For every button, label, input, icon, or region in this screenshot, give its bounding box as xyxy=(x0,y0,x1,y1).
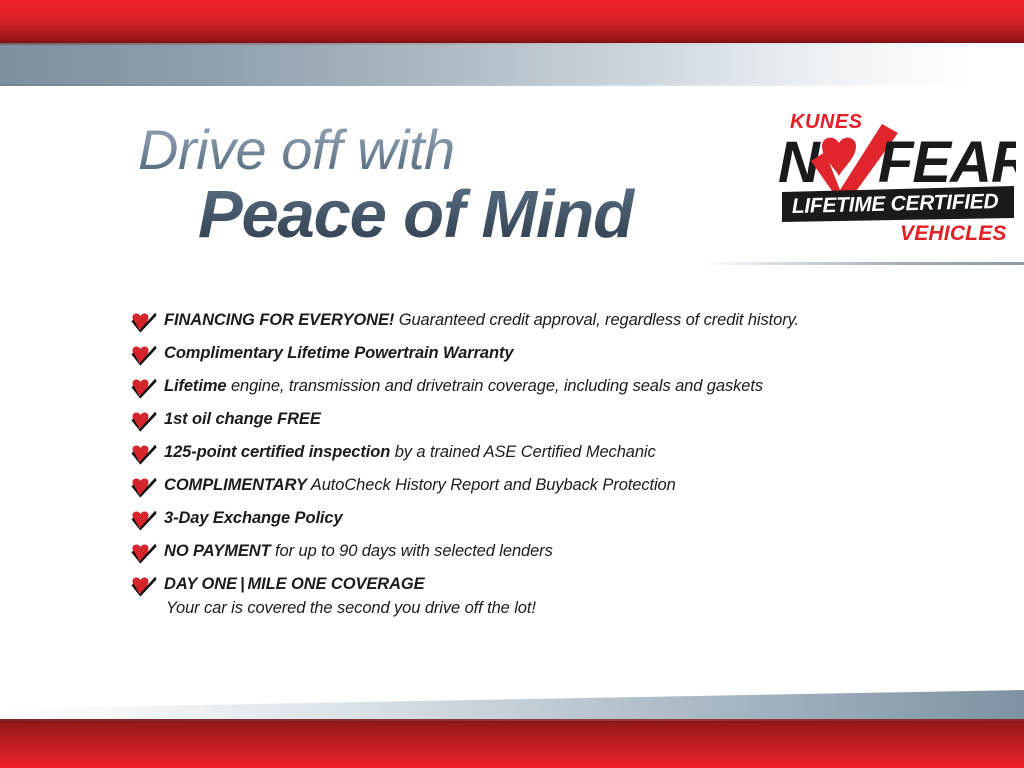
list-item-bold: NO PAYMENT xyxy=(164,542,271,560)
top-red-band xyxy=(0,0,1024,43)
list-item-bold: COMPLIMENTARY xyxy=(164,476,307,494)
bottom-gray-band xyxy=(0,690,1024,720)
list-item-text: Complimentary Lifetime Powertrain Warran… xyxy=(164,344,513,362)
list-item-bold: Complimentary Lifetime Powertrain Warran… xyxy=(164,344,513,362)
list-item: 1st oil change FREE xyxy=(130,409,970,440)
list-item: 3-Day Exchange Policy xyxy=(130,508,970,539)
list-item-rest: AutoCheck History Report and Buyback Pro… xyxy=(307,476,676,494)
list-item-rest: engine, transmission and drivetrain cove… xyxy=(226,377,763,395)
list-item-bold: 1st oil change FREE xyxy=(164,410,321,428)
list-item-text: 3-Day Exchange Policy xyxy=(164,509,343,527)
list-item-text: NO PAYMENT for up to 90 days with select… xyxy=(164,542,553,560)
kunes-no-fear-logo: KUNES N FEAR LIFETIME CERTIFIED VEHICLES xyxy=(770,106,1016,246)
heart-check-icon xyxy=(130,443,157,465)
list-item: Lifetime engine, transmission and drivet… xyxy=(130,376,970,407)
list-item-text: COMPLIMENTARY AutoCheck History Report a… xyxy=(164,476,676,494)
list-item-rest: Guaranteed credit approval, regardless o… xyxy=(394,311,799,329)
list-item-text: Lifetime engine, transmission and drivet… xyxy=(164,377,763,395)
list-item-text: DAY ONE|MILE ONE COVERAGE xyxy=(164,575,425,593)
logo-vehicles-text: VEHICLES xyxy=(900,222,1007,245)
list-item-text: 125-point certified inspection by a trai… xyxy=(164,443,656,461)
list-item: 125-point certified inspection by a trai… xyxy=(130,442,970,473)
headline-line-1: Drive off with xyxy=(138,122,738,178)
benefits-list: FINANCING FOR EVERYONE! Guaranteed credi… xyxy=(130,310,970,621)
heart-check-icon xyxy=(130,542,157,564)
headline-line-2: Peace of Mind xyxy=(198,180,738,250)
headline-block: Drive off with Peace of Mind xyxy=(138,122,738,250)
top-banner xyxy=(0,0,1024,86)
list-item-separator: | xyxy=(237,575,248,593)
heart-check-icon xyxy=(130,377,157,399)
list-item-text: FINANCING FOR EVERYONE! Guaranteed credi… xyxy=(164,311,799,329)
headline-divider xyxy=(700,262,1024,265)
top-band-edge xyxy=(0,84,1024,86)
list-item: FINANCING FOR EVERYONE! Guaranteed credi… xyxy=(130,310,970,341)
list-item: Complimentary Lifetime Powertrain Warran… xyxy=(130,343,970,374)
list-item-subtext: Your car is covered the second you drive… xyxy=(166,598,970,619)
bottom-red-band xyxy=(0,719,1024,768)
list-item: COMPLIMENTARY AutoCheck History Report a… xyxy=(130,475,970,506)
list-item-rest: for up to 90 days with selected lenders xyxy=(271,542,553,560)
top-gray-band xyxy=(0,43,1024,85)
bottom-banner xyxy=(0,690,1024,768)
list-item-bold: FINANCING FOR EVERYONE! xyxy=(164,311,394,329)
list-item-bold-2: MILE ONE COVERAGE xyxy=(248,575,425,593)
heart-check-icon xyxy=(130,575,157,597)
list-item-rest: by a trained ASE Certified Mechanic xyxy=(390,443,655,461)
list-item: DAY ONE|MILE ONE COVERAGE Your car is co… xyxy=(130,574,970,619)
list-item: NO PAYMENT for up to 90 days with select… xyxy=(130,541,970,572)
promo-graphic: Drive off with Peace of Mind KUNES N FEA… xyxy=(0,0,1024,768)
list-item-bold: DAY ONE xyxy=(164,575,237,593)
heart-check-icon xyxy=(130,344,157,366)
heart-check-icon xyxy=(130,410,157,432)
list-item-text: 1st oil change FREE xyxy=(164,410,321,428)
heart-check-icon xyxy=(130,509,157,531)
heart-check-icon xyxy=(130,311,157,333)
heart-check-icon xyxy=(130,476,157,498)
list-item-bold: Lifetime xyxy=(164,377,226,395)
logo-fear-text: FEAR xyxy=(878,130,1016,195)
list-item-bold: 3-Day Exchange Policy xyxy=(164,509,343,527)
list-item-bold: 125-point certified inspection xyxy=(164,443,390,461)
